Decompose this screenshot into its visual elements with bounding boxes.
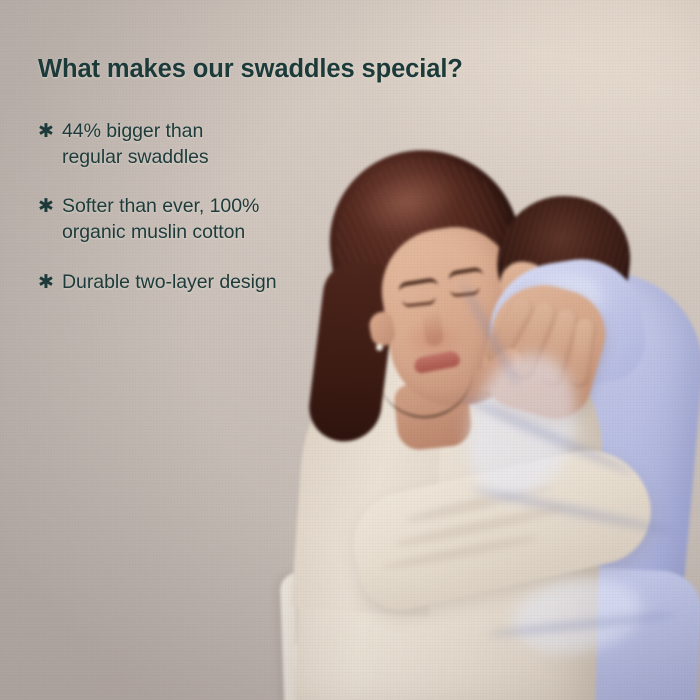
marketing-copy-block: What makes our swaddles special? ✱ 44% b… bbox=[0, 0, 700, 700]
asterisk-star-icon: ✱ bbox=[38, 201, 51, 214]
feature-bullet-text: Durable two-layer design bbox=[62, 270, 277, 296]
page-title: What makes our swaddles special? bbox=[38, 54, 700, 85]
swaddle-feature-card: What makes our swaddles special? ✱ 44% b… bbox=[0, 0, 700, 700]
feature-bullet-list: ✱ 44% bigger than regular swaddles ✱ Sof… bbox=[38, 119, 700, 297]
list-item: ✱ Durable two-layer design bbox=[38, 270, 700, 296]
feature-bullet-text: 44% bigger than regular swaddles bbox=[62, 119, 209, 171]
list-item: ✱ Softer than ever, 100% organic muslin … bbox=[38, 194, 700, 246]
feature-bullet-text: Softer than ever, 100% organic muslin co… bbox=[62, 194, 259, 246]
asterisk-star-icon: ✱ bbox=[38, 126, 51, 139]
asterisk-star-icon: ✱ bbox=[38, 277, 51, 290]
list-item: ✱ 44% bigger than regular swaddles bbox=[38, 119, 700, 171]
